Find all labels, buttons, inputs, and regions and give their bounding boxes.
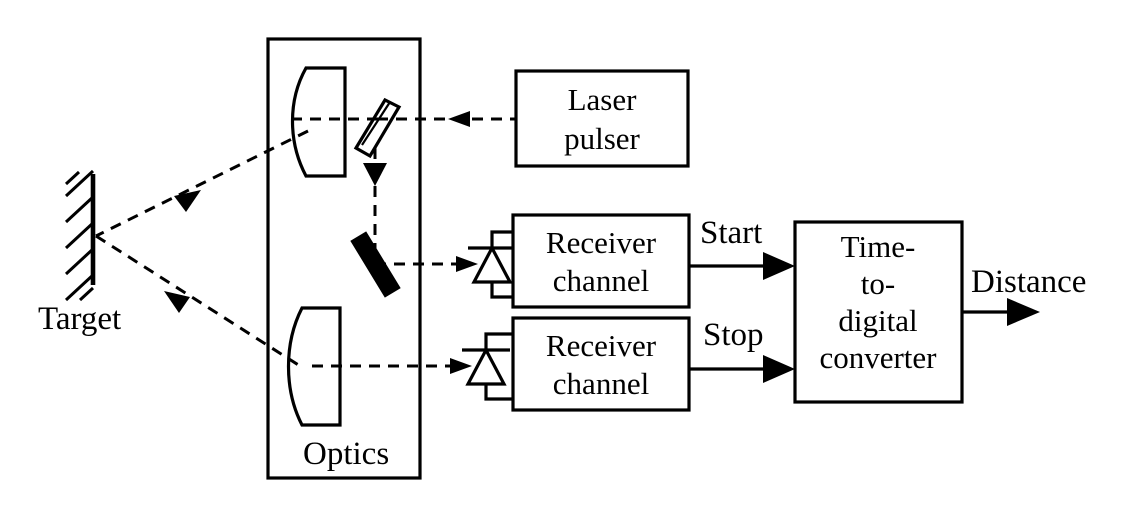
receiver-channel-start-label-line1: Receiver: [546, 225, 657, 260]
beam-start-diode-arrowhead: [456, 256, 478, 272]
tdc-label-line1: Time-: [841, 229, 916, 264]
beam-to-target-arrowhead: [174, 190, 201, 212]
start-signal-arrowhead: [763, 252, 795, 280]
laser-pulser-label-line1: Laser: [568, 82, 638, 117]
laser-rangefinder-diagram: Target Optics: [0, 0, 1123, 527]
stop-signal-wire: [689, 355, 795, 383]
start-photodiode-triangle: [474, 248, 510, 282]
tdc-label-line2: to-: [861, 266, 895, 301]
stop-photodiode-bottom-lead: [486, 384, 512, 399]
distance-label: Distance: [971, 264, 1086, 300]
target-hatching: [66, 171, 93, 300]
tdc-label-line3: digital: [838, 303, 917, 338]
start-label: Start: [700, 215, 762, 251]
transmitter-lens-body: [293, 68, 346, 176]
stop-signal-arrowhead: [763, 355, 795, 383]
transmitter-lens: [293, 68, 346, 176]
beam-to-receiver-arrowhead: [164, 291, 190, 313]
distance-output-arrowhead: [1007, 298, 1040, 326]
target-symbol: [66, 171, 93, 300]
start-signal-wire: [689, 252, 795, 280]
beam-pulser-arrowhead: [448, 111, 470, 127]
laser-pulser-label-line2: pulser: [564, 121, 640, 156]
stop-photodiode-top-lead: [486, 334, 512, 350]
tdc-label-line4: converter: [819, 340, 937, 375]
receiver-channel-start-label-line2: channel: [553, 263, 649, 298]
optics-label: Optics: [303, 436, 389, 472]
stop-photodiode-triangle: [468, 350, 504, 384]
beam-stop-diode-arrowhead: [450, 358, 472, 374]
receiver-channel-stop-label-line1: Receiver: [546, 328, 657, 363]
diagram-canvas: Target Optics: [0, 0, 1123, 527]
distance-output-wire: [962, 298, 1040, 326]
receiver-channel-stop-label-line2: channel: [553, 366, 649, 401]
stop-label: Stop: [703, 317, 764, 353]
target-label: Target: [38, 301, 121, 337]
